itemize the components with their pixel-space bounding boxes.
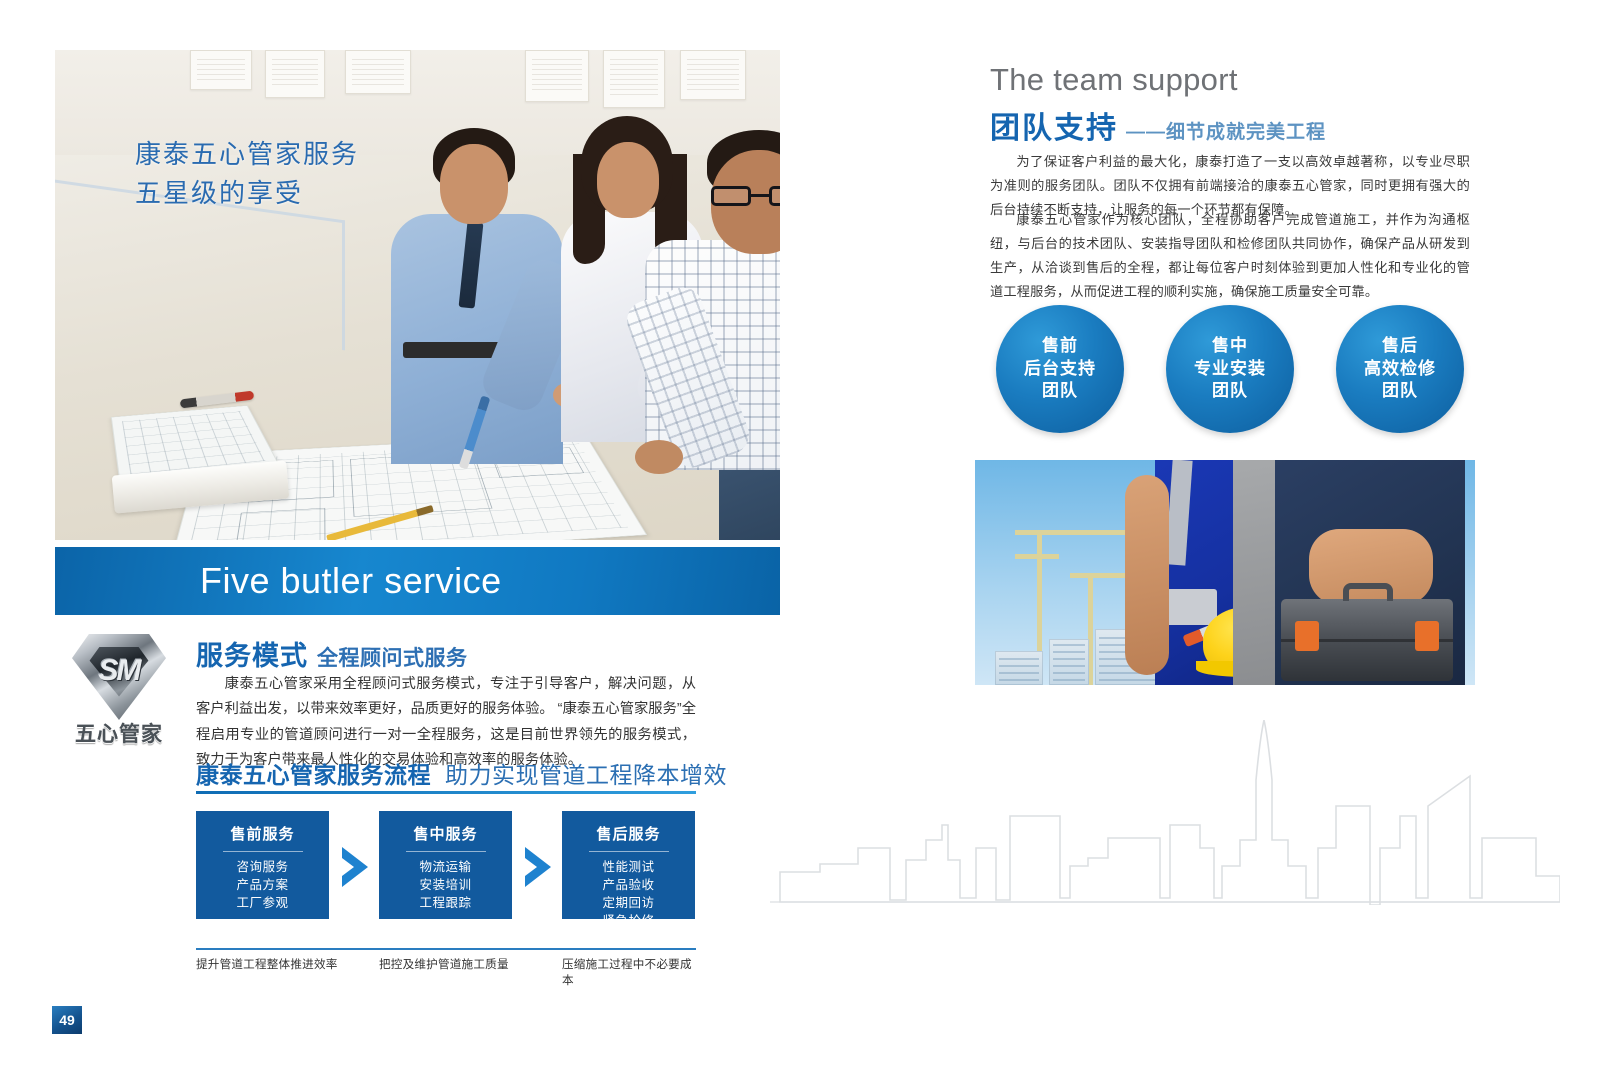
team-circle-line: 专业安装 bbox=[1194, 358, 1266, 381]
process-caption: 压缩施工过程中不必要成本 bbox=[562, 956, 696, 988]
flow-arrow-icon bbox=[521, 845, 555, 889]
flow-box-item: 产品验收 bbox=[562, 876, 695, 894]
section-bar-title: Five butler service bbox=[200, 560, 502, 602]
flow-box-item: 性能测试 bbox=[562, 858, 695, 876]
team-circle-presale: 售前 后台支持 团队 bbox=[996, 305, 1124, 433]
wall-document bbox=[603, 50, 665, 108]
flow-box-presale: 售前服务 咨询服务 产品方案 工厂参观 bbox=[196, 811, 329, 919]
hero-title-line-1: 康泰五心管家服务 bbox=[135, 135, 359, 174]
toolbox-latch bbox=[1415, 621, 1439, 651]
glasses-bridge bbox=[751, 194, 769, 197]
team-support-paragraph-2: 康泰五心管家作为核心团队，全程协助客户完成管道施工，并作为沟通枢纽，与后台的技术… bbox=[990, 208, 1470, 304]
team-support-heading-cn: 团队支持——细节成就完美工程 bbox=[990, 103, 1326, 147]
wall-document bbox=[190, 50, 252, 90]
process-heading: 康泰五心管家服务流程助力实现管道工程降本增效 bbox=[196, 756, 727, 790]
service-mode-heading: 服务模式全程顾问式服务 bbox=[196, 634, 468, 673]
flow-box-after-sale: 售后服务 性能测试 产品验收 定期回访 紧急抢修 bbox=[562, 811, 695, 919]
right-page: The team support 团队支持——细节成就完美工程 为了保证客户利益… bbox=[800, 0, 1600, 1078]
team-circle-line: 售前 bbox=[1042, 335, 1078, 358]
toolbox-handle bbox=[1343, 583, 1393, 601]
flow-box-title: 售后服务 bbox=[562, 823, 695, 844]
building bbox=[1049, 639, 1089, 685]
flow-box-item: 物流运输 bbox=[379, 858, 512, 876]
process-divider bbox=[196, 791, 696, 794]
flow-box-in-sale: 售中服务 物流运输 安装培训 工程跟踪 bbox=[379, 811, 512, 919]
person-right-checked-shirt bbox=[645, 120, 780, 540]
photo-construction-workers bbox=[975, 460, 1475, 685]
service-mode-heading-main: 服务模式 bbox=[196, 641, 308, 671]
five-butler-logo: SM 五心管家 bbox=[58, 632, 180, 750]
building bbox=[995, 651, 1043, 685]
team-circle-line: 售后 bbox=[1382, 335, 1418, 358]
flow-box-divider bbox=[589, 851, 669, 852]
process-caption: 提升管道工程整体推进效率 bbox=[196, 956, 379, 988]
flow-box-item: 产品方案 bbox=[196, 876, 329, 894]
flow-box-item: 紧急抢修 bbox=[562, 912, 695, 930]
team-circle-after-sale: 售后 高效检修 团队 bbox=[1336, 305, 1464, 433]
team-circles: 售前 后台支持 团队 售中 专业安装 团队 售后 高效检修 团队 bbox=[990, 305, 1480, 440]
team-circle-line: 团队 bbox=[1042, 380, 1078, 403]
flow-box-item: 定期回访 bbox=[562, 894, 695, 912]
brochure-spread: 康泰五心管家服务 五星级的享受 Five butler service SM 五… bbox=[0, 0, 1600, 1078]
city-skyline-outline bbox=[770, 720, 1560, 905]
left-page: 康泰五心管家服务 五星级的享受 Five butler service SM 五… bbox=[0, 0, 800, 1078]
team-circle-line: 售中 bbox=[1212, 335, 1248, 358]
flow-arrow-icon bbox=[338, 845, 372, 889]
team-circle-line: 团队 bbox=[1212, 380, 1248, 403]
hero-photo-meeting: 康泰五心管家服务 五星级的享受 bbox=[55, 50, 780, 540]
team-circle-in-sale: 售中 专业安装 团队 bbox=[1166, 305, 1294, 433]
blueprint-room bbox=[236, 508, 326, 540]
process-caption: 把控及维护管道施工质量 bbox=[379, 956, 562, 988]
toolbox bbox=[1281, 599, 1453, 681]
captions-divider bbox=[196, 948, 696, 950]
eyeglasses-icon bbox=[711, 186, 780, 206]
team-circle-line: 后台支持 bbox=[1024, 358, 1096, 381]
wall-document bbox=[345, 50, 411, 94]
worker-arm bbox=[1125, 475, 1169, 675]
team-support-heading-cn-main: 团队支持 bbox=[990, 112, 1118, 145]
flow-box-item: 工程跟踪 bbox=[379, 894, 512, 912]
flow-box-item: 工厂参观 bbox=[196, 894, 329, 912]
hero-title-line-2: 五星级的享受 bbox=[135, 174, 359, 213]
glasses-lens bbox=[711, 186, 751, 206]
team-support-heading-en: The team support bbox=[990, 62, 1238, 98]
flow-box-item: 咨询服务 bbox=[196, 858, 329, 876]
process-heading-sub: 助力实现管道工程降本增效 bbox=[445, 762, 727, 788]
person-hand bbox=[635, 440, 683, 474]
flow-box-divider bbox=[406, 851, 486, 852]
worker-with-toolbox bbox=[1275, 460, 1465, 685]
wall-document bbox=[525, 50, 589, 102]
process-flow: 售前服务 咨询服务 产品方案 工厂参观 售中服务 物流运输 安装培训 工程跟踪 … bbox=[196, 811, 696, 936]
flow-box-item: 安装培训 bbox=[379, 876, 512, 894]
glasses-lens bbox=[769, 186, 780, 206]
flow-box-title: 售前服务 bbox=[196, 823, 329, 844]
wall-document bbox=[265, 50, 325, 98]
logo-monogram: SM bbox=[84, 646, 154, 696]
process-heading-main: 康泰五心管家服务流程 bbox=[196, 762, 431, 788]
crane-counter-jib bbox=[1015, 554, 1059, 559]
toolbox-latch bbox=[1295, 621, 1319, 651]
page-number-left: 49 bbox=[52, 1006, 82, 1034]
flow-box-divider bbox=[223, 851, 303, 852]
person-head bbox=[440, 144, 508, 224]
wall-document bbox=[680, 50, 746, 100]
logo-wordmark: 五心管家 bbox=[58, 718, 180, 748]
team-circle-line: 团队 bbox=[1382, 380, 1418, 403]
captions-row: 提升管道工程整体推进效率 把控及维护管道施工质量 压缩施工过程中不必要成本 bbox=[196, 956, 696, 988]
hero-title: 康泰五心管家服务 五星级的享受 bbox=[135, 135, 359, 213]
service-mode-heading-sub: 全程顾问式服务 bbox=[317, 647, 468, 670]
process-captions: 提升管道工程整体推进效率 把控及维护管道施工质量 压缩施工过程中不必要成本 bbox=[196, 948, 696, 988]
team-support-heading-cn-sub: ——细节成就完美工程 bbox=[1126, 122, 1326, 143]
flow-box-title: 售中服务 bbox=[379, 823, 512, 844]
person-left-blue-shirt bbox=[385, 110, 565, 450]
section-bar-five-butler-service: Five butler service bbox=[55, 547, 780, 615]
team-circle-line: 高效检修 bbox=[1364, 358, 1436, 381]
